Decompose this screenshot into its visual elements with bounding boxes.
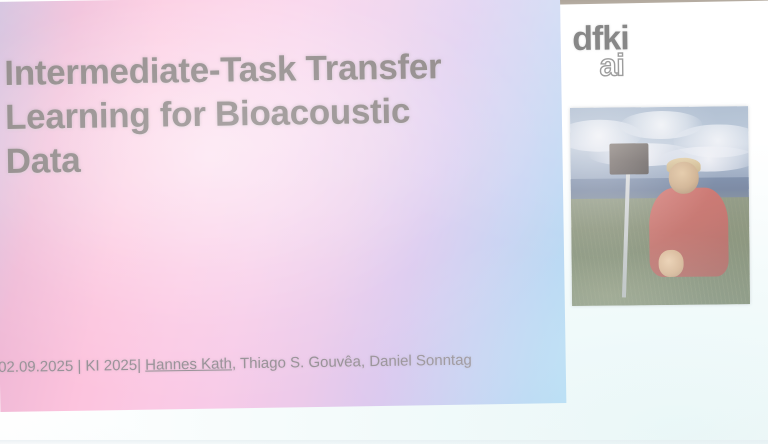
projected-slide-photo: Intermediate-Task Transfer Learning for … bbox=[0, 0, 768, 444]
dfki-ai-wordmark: ai bbox=[599, 49, 624, 80]
screen-bottom-edge bbox=[0, 440, 768, 444]
field-recording-photo bbox=[570, 106, 750, 306]
dfki-logo: dfki ai bbox=[572, 21, 669, 94]
photo-person-head bbox=[668, 162, 699, 194]
photo-person-hands bbox=[659, 249, 684, 277]
footer-authors-rest: , Thiago S. Gouvêa, Daniel Sonntag bbox=[232, 352, 472, 373]
footer-separator-1: | bbox=[73, 358, 85, 375]
footer-venue: KI 2025 bbox=[85, 357, 137, 375]
photo-recorder-box bbox=[610, 143, 649, 175]
title-line-3: Data bbox=[5, 132, 546, 184]
slide-title: Intermediate-Task Transfer Learning for … bbox=[4, 44, 546, 184]
footer-date: 02.09.2025 bbox=[0, 358, 73, 376]
footer-author-primary: Hannes Kath bbox=[145, 355, 232, 373]
